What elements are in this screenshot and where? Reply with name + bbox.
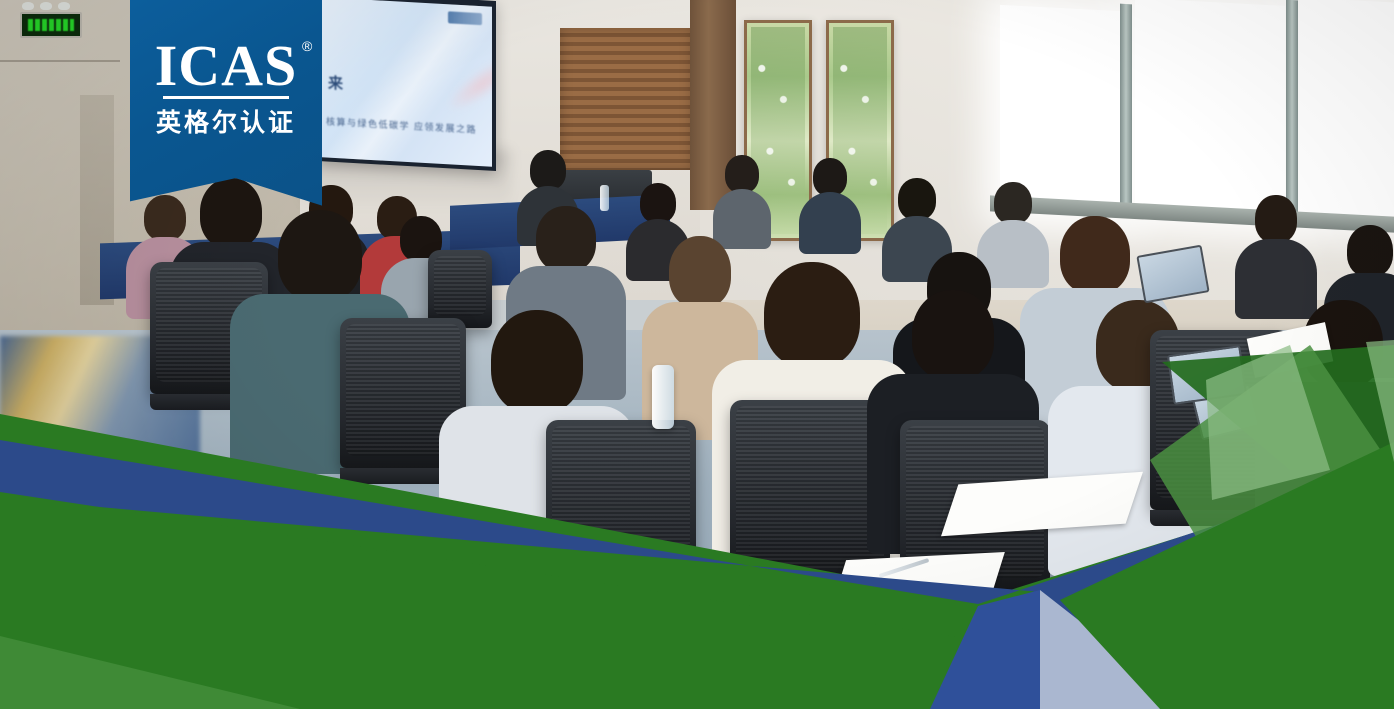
banner: 来 核算与绿色低碳学 应领发展之路 — [0, 0, 1394, 709]
icas-chinese-name: 英格尔认证 — [130, 103, 322, 139]
icas-logo: ICAS ® 英格尔认证 — [130, 38, 322, 139]
icas-wordmark-text: ICAS — [155, 33, 298, 98]
icas-wordmark: ICAS ® — [155, 38, 298, 93]
registered-trademark-icon: ® — [302, 40, 313, 53]
icas-logo-panel: ICAS ® 英格尔认证 — [130, 0, 322, 212]
